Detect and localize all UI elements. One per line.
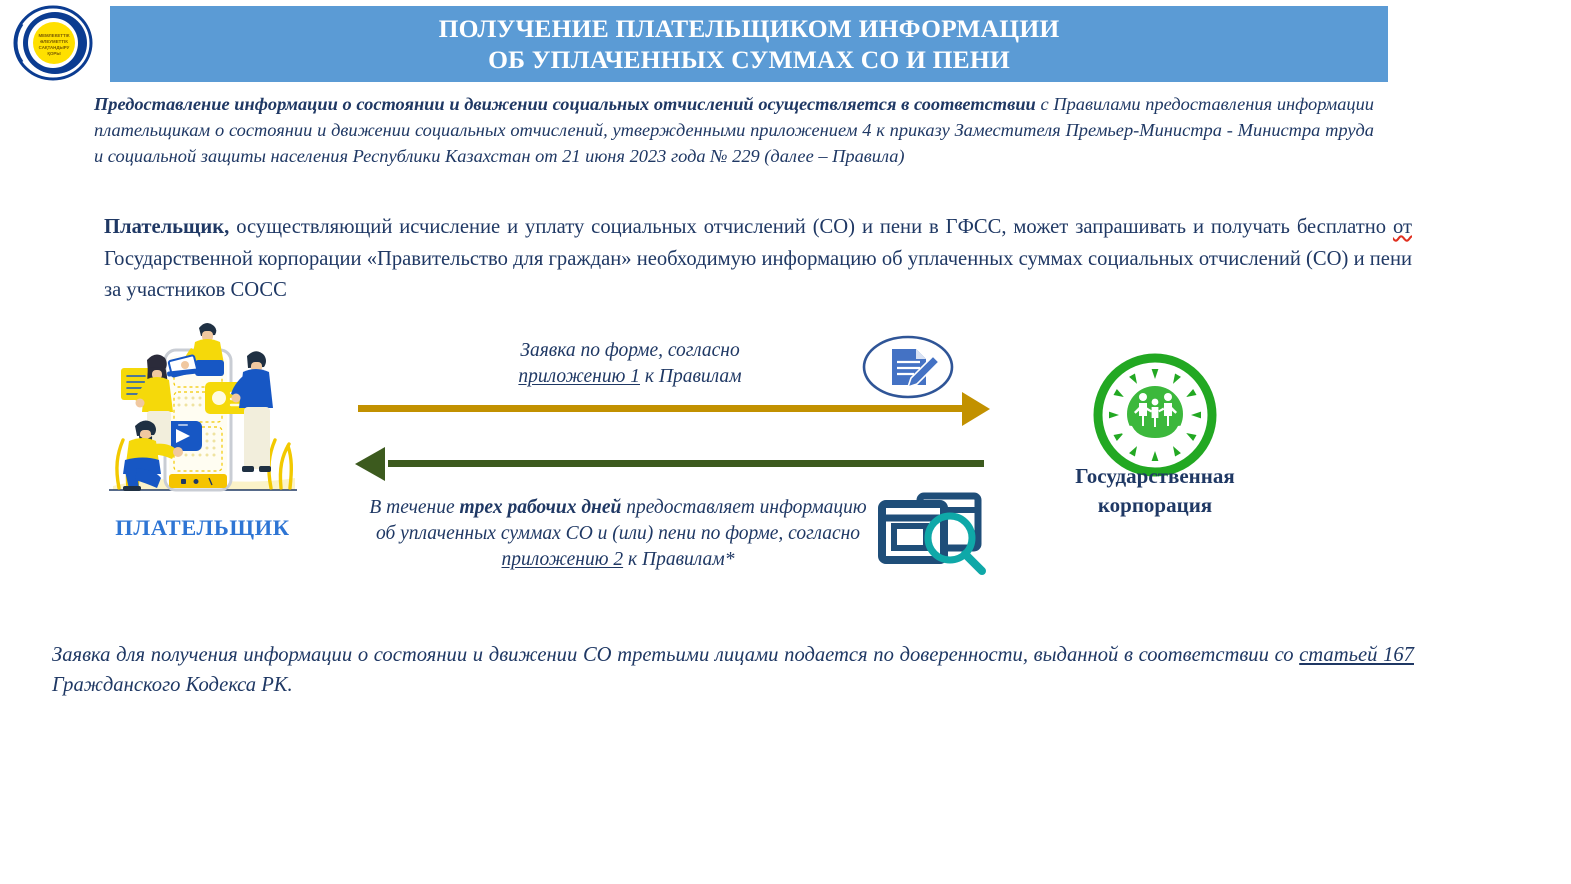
government-corporation-label: Государственная корпорация bbox=[1010, 462, 1300, 520]
footnote-paragraph: Заявка для получения информации о состоя… bbox=[52, 640, 1414, 700]
page-title-line-1: ПОЛУЧЕНИЕ ПЛАТЕЛЬЩИКОМ ИНФОРМАЦИИ bbox=[439, 13, 1060, 44]
main-paragraph-part-1: осуществляющий исчисление и уплату социа… bbox=[229, 216, 1393, 238]
screen-search-icon bbox=[872, 488, 992, 578]
process-diagram: ПЛАТЕЛЬЩИК Заявка по форме, согласно при… bbox=[0, 300, 1571, 600]
spellchecked-word: от bbox=[1393, 216, 1412, 238]
forward-caption-tail: к Правилам bbox=[640, 366, 742, 387]
back-caption-tail: к Правилам* bbox=[623, 549, 734, 570]
back-arrow-line bbox=[388, 460, 984, 467]
forward-caption-link[interactable]: приложению 1 bbox=[518, 366, 640, 387]
payer-illustration-icon bbox=[95, 308, 310, 508]
main-paragraph-subject: Плательщик, bbox=[104, 216, 229, 238]
forward-arrow-line bbox=[358, 405, 970, 412]
gfss-logo-text-line4: ҚОРЫ bbox=[47, 51, 60, 56]
back-caption-bold: трех рабочих дней bbox=[460, 497, 622, 518]
gov-label-line-1: Государственная bbox=[1075, 464, 1234, 488]
forward-caption-line-1: Заявка по форме, согласно bbox=[520, 340, 739, 361]
gfss-logo-text-line2: ӘЛЕУМЕТТІК bbox=[40, 39, 68, 44]
intro-paragraph: Предоставление информации о состоянии и … bbox=[94, 92, 1374, 169]
payer-label: ПЛАТЕЛЬЩИК bbox=[85, 515, 320, 541]
forward-arrow-caption: Заявка по форме, согласно приложению 1 к… bbox=[420, 338, 840, 390]
back-caption-link[interactable]: приложению 2 bbox=[502, 549, 624, 570]
gov-label-line-2: корпорация bbox=[1098, 493, 1212, 517]
page-title-line-2: ОБ УПЛАЧЕННЫХ СУММАХ СО И ПЕНИ bbox=[488, 44, 1010, 75]
back-caption-prefix: В течение bbox=[369, 497, 459, 518]
gfss-logo-text-line3: САҚТАНДЫРУ bbox=[39, 45, 70, 50]
page-title-banner: ПОЛУЧЕНИЕ ПЛАТЕЛЬЩИКОМ ИНФОРМАЦИИ ОБ УПЛ… bbox=[110, 6, 1388, 82]
government-corporation-logo-icon bbox=[1090, 350, 1220, 480]
document-pencil-icon bbox=[862, 335, 954, 399]
forward-arrow-head-icon bbox=[962, 392, 990, 426]
gfss-logo-text-line1: МЕМЛЕКЕТТІК bbox=[38, 33, 69, 38]
main-paragraph: Плательщик, осуществляющий исчисление и … bbox=[104, 212, 1412, 307]
main-paragraph-part-2: Государственной корпорации «Правительств… bbox=[104, 248, 1412, 302]
back-arrow-head-icon bbox=[355, 447, 385, 481]
footnote-link[interactable]: статьей 167 bbox=[1299, 644, 1414, 666]
intro-lead-text: Предоставление информации о состоянии и … bbox=[94, 94, 1036, 114]
back-arrow-caption: В течение трех рабочих дней предоставляе… bbox=[368, 495, 868, 573]
footnote-part-1: Заявка для получения информации о состоя… bbox=[52, 644, 1299, 666]
gfss-logo: МЕМЛЕКЕТТІК ӘЛЕУМЕТТІК САҚТАНДЫРУ ҚОРЫ bbox=[12, 4, 94, 82]
footnote-part-2: Гражданского Кодекса РК. bbox=[52, 674, 293, 696]
